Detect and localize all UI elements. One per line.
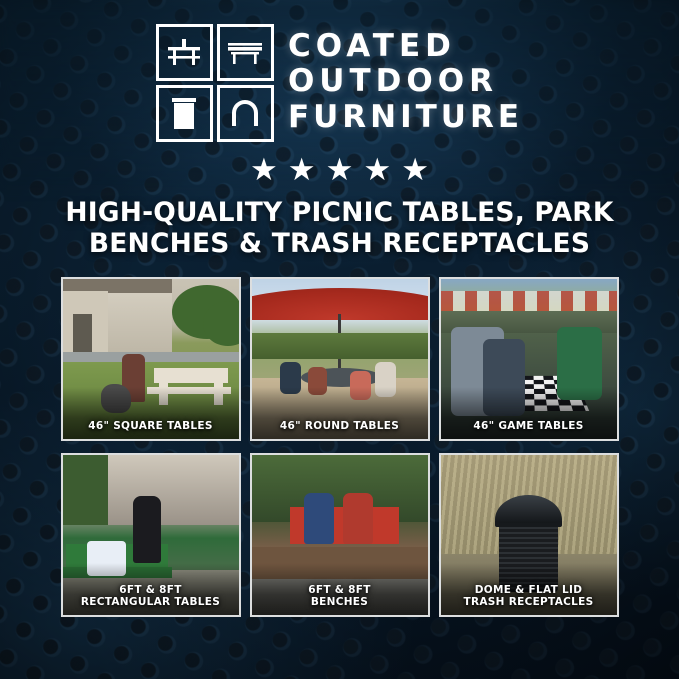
caption-trash-receptacles: DOME & FLAT LID TRASH RECEPTACLES bbox=[441, 579, 617, 614]
brand-logo: COATED OUTDOOR FURNITURE bbox=[156, 24, 523, 142]
product-poster: COATED OUTDOOR FURNITURE ★ ★ ★ ★ ★ HIGH-… bbox=[0, 0, 679, 679]
star-icon-2: ★ bbox=[288, 154, 316, 185]
product-card-benches[interactable]: 6FT & 8FT BENCHES bbox=[250, 453, 430, 617]
headline-line-1: HIGH-QUALITY PICNIC TABLES, PARK bbox=[65, 197, 613, 228]
product-card-rectangular-tables[interactable]: 6FT & 8FT RECTANGULAR TABLES bbox=[61, 453, 241, 617]
trash-receptacle-icon bbox=[156, 85, 213, 142]
caption-round-tables: 46" ROUND TABLES bbox=[252, 415, 428, 438]
logo-line-2: OUTDOOR bbox=[288, 65, 523, 98]
caption-square-tables: 46" SQUARE TABLES bbox=[63, 415, 239, 438]
product-grid: 46" SQUARE TABLES 46" ROUND TABLES bbox=[61, 277, 619, 617]
caption-rectangular-tables-line2: RECTANGULAR TABLES bbox=[67, 596, 235, 608]
caption-rectangular-tables-line1: 6FT & 8FT bbox=[67, 584, 235, 596]
park-bench-icon bbox=[217, 24, 274, 81]
caption-game-tables: 46" GAME TABLES bbox=[441, 415, 617, 438]
headline-line-2: BENCHES & TRASH RECEPTACLES bbox=[65, 228, 613, 259]
logo-line-1: COATED bbox=[288, 30, 523, 63]
product-card-square-tables[interactable]: 46" SQUARE TABLES bbox=[61, 277, 241, 441]
star-icon-3: ★ bbox=[326, 154, 354, 185]
caption-rectangular-tables: 6FT & 8FT RECTANGULAR TABLES bbox=[63, 579, 239, 614]
caption-trash-receptacles-line2: TRASH RECEPTACLES bbox=[445, 596, 613, 608]
product-card-trash-receptacles[interactable]: DOME & FLAT LID TRASH RECEPTACLES bbox=[439, 453, 619, 617]
caption-benches-line1: 6FT & 8FT bbox=[256, 584, 424, 596]
caption-benches-line2: BENCHES bbox=[256, 596, 424, 608]
picnic-table-icon bbox=[156, 24, 213, 81]
star-icon-5: ★ bbox=[401, 154, 429, 185]
logo-wordmark: COATED OUTDOOR FURNITURE bbox=[288, 30, 523, 136]
product-card-round-tables[interactable]: 46" ROUND TABLES bbox=[250, 277, 430, 441]
headline: HIGH-QUALITY PICNIC TABLES, PARK BENCHES… bbox=[65, 197, 613, 260]
logo-line-3: FURNITURE bbox=[288, 101, 523, 134]
arch-bench-icon bbox=[217, 85, 274, 142]
star-icon-4: ★ bbox=[363, 154, 391, 185]
star-icon-1: ★ bbox=[250, 154, 278, 185]
caption-trash-receptacles-line1: DOME & FLAT LID bbox=[445, 584, 613, 596]
product-card-game-tables[interactable]: 46" GAME TABLES bbox=[439, 277, 619, 441]
caption-benches: 6FT & 8FT BENCHES bbox=[252, 579, 428, 614]
star-rating: ★ ★ ★ ★ ★ bbox=[250, 154, 429, 185]
logo-icon-grid bbox=[156, 24, 274, 142]
